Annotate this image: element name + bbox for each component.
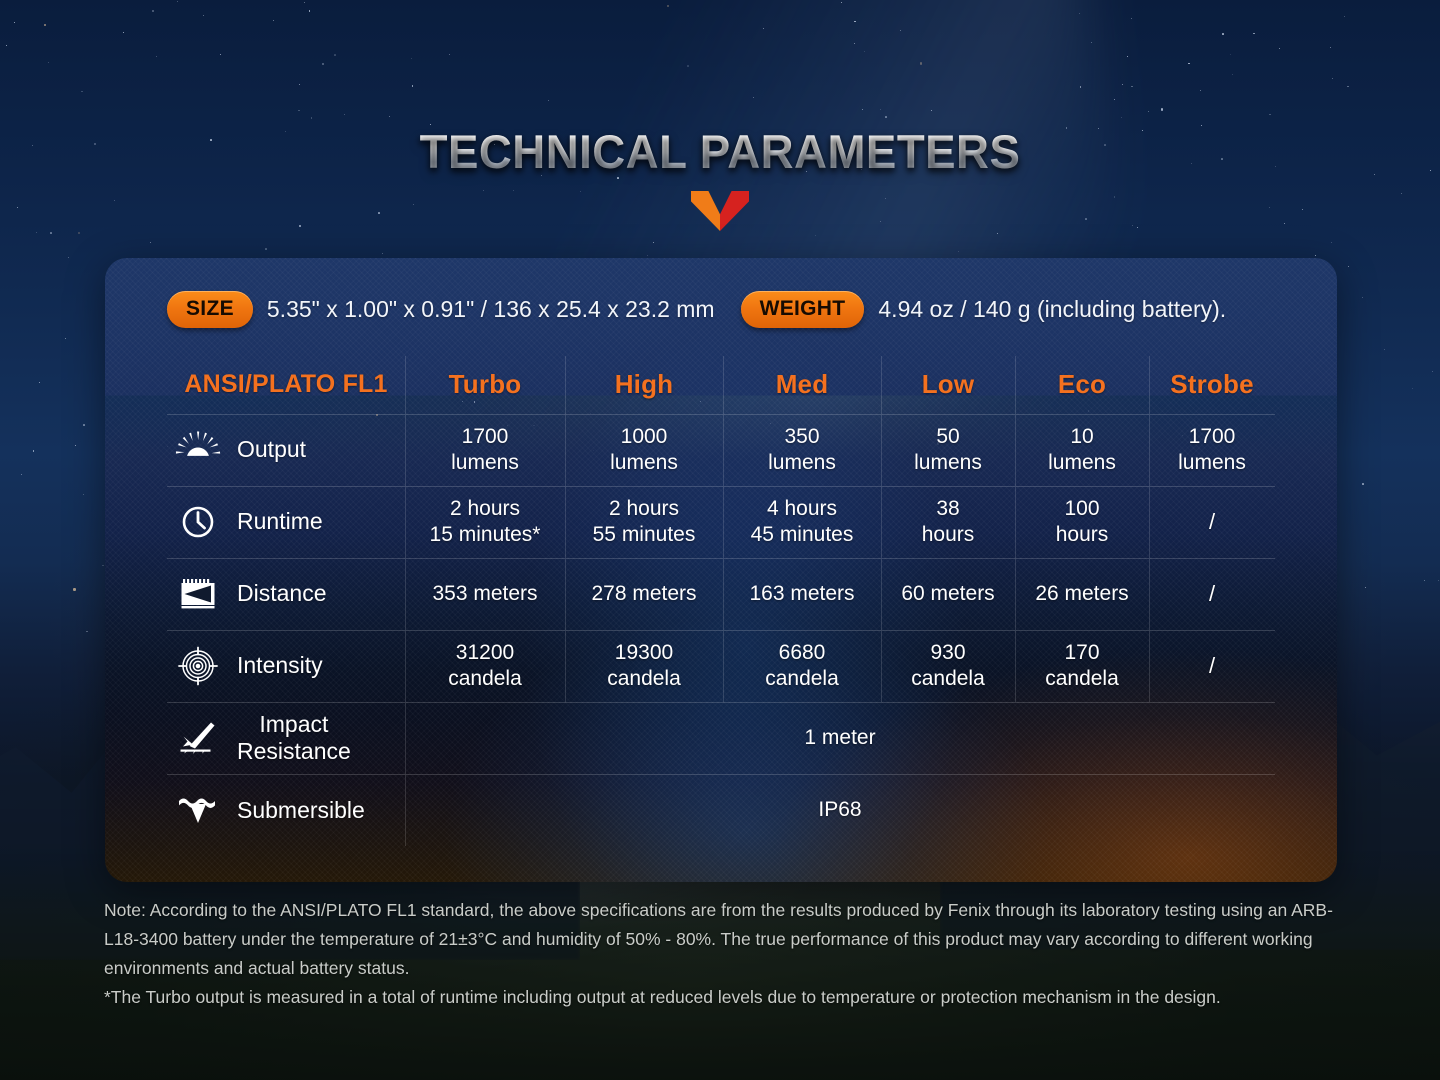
size-badge: SIZE (167, 291, 253, 328)
header-ansi-plato-fl1: ANSI/PLATO FL1 (167, 356, 405, 414)
value-cell: 1700lumens (405, 414, 565, 486)
value-cell: 31200candela (405, 630, 565, 702)
sunburst-icon (175, 430, 221, 470)
value-cell: 10lumens (1015, 414, 1149, 486)
row-label-cell: Submersible (167, 774, 405, 846)
header-eco: Eco (1015, 356, 1149, 414)
header-strobe: Strobe (1149, 356, 1275, 414)
value-cell: 930candela (881, 630, 1015, 702)
footnote: Note: According to the ANSI/PLATO FL1 st… (104, 896, 1360, 1012)
footnote-line-2: *The Turbo output is measured in a total… (104, 983, 1360, 1012)
table-row: Runtime2 hours15 minutes*2 hours55 minut… (167, 486, 1275, 558)
row-label-cell: Intensity (167, 630, 405, 702)
row-label-cell: ImpactResistance (167, 702, 405, 774)
value-cell: 350lumens (723, 414, 881, 486)
row-label-text: Submersible (237, 797, 365, 824)
table-row: ImpactResistance1 meter (167, 702, 1275, 774)
size-weight-row: SIZE 5.35" x 1.00" x 0.91" / 136 x 25.4 … (167, 258, 1275, 356)
table-row: Intensity31200candela19300candela6680can… (167, 630, 1275, 702)
value-cell: 6680candela (723, 630, 881, 702)
value-cell: 38hours (881, 486, 1015, 558)
merged-value-cell: 1 meter (405, 702, 1275, 774)
table-header-row: ANSI/PLATO FL1 Turbo High Med Low Eco St… (167, 356, 1275, 414)
value-cell: 4 hours45 minutes (723, 486, 881, 558)
clock-icon (175, 502, 221, 542)
row-label-text: ImpactResistance (237, 711, 351, 765)
weight-badge: WEIGHT (741, 291, 865, 328)
value-cell: 19300candela (565, 630, 723, 702)
table-row: Output1700lumens1000lumens350lumens50lum… (167, 414, 1275, 486)
chevron-down-icon (691, 191, 749, 231)
value-cell: 1700lumens (1149, 414, 1275, 486)
weight-value: 4.94 oz / 140 g (including battery). (878, 296, 1226, 323)
value-cell: / (1149, 630, 1275, 702)
value-cell: 2 hours55 minutes (565, 486, 723, 558)
row-label-text: Distance (237, 580, 326, 607)
row-label-text: Intensity (237, 652, 323, 679)
spec-card: SIZE 5.35" x 1.00" x 0.91" / 136 x 25.4 … (105, 258, 1337, 882)
title-block: TECHNICAL PARAMETERS (0, 128, 1440, 231)
technical-parameters-table: ANSI/PLATO FL1 Turbo High Med Low Eco St… (167, 356, 1275, 846)
header-med: Med (723, 356, 881, 414)
value-cell: 50lumens (881, 414, 1015, 486)
beam-distance-icon (175, 574, 221, 614)
footnote-line-1: Note: According to the ANSI/PLATO FL1 st… (104, 896, 1360, 983)
value-cell: 1000lumens (565, 414, 723, 486)
target-icon (175, 646, 221, 686)
submersible-icon (175, 790, 221, 830)
row-label-cell: Runtime (167, 486, 405, 558)
value-cell: 353 meters (405, 558, 565, 630)
chevron-left-half (691, 191, 720, 231)
size-value: 5.35" x 1.00" x 0.91" / 136 x 25.4 x 23.… (267, 296, 715, 323)
page-title: TECHNICAL PARAMETERS (22, 128, 1419, 175)
value-cell: 60 meters (881, 558, 1015, 630)
value-cell: 163 meters (723, 558, 881, 630)
row-label-text: Runtime (237, 508, 323, 535)
value-cell: 26 meters (1015, 558, 1149, 630)
value-cell: 170candela (1015, 630, 1149, 702)
header-low: Low (881, 356, 1015, 414)
header-high: High (565, 356, 723, 414)
value-cell: / (1149, 486, 1275, 558)
value-cell: 278 meters (565, 558, 723, 630)
row-label-text: Output (237, 436, 306, 463)
impact-icon (175, 718, 221, 758)
row-label-cell: Distance (167, 558, 405, 630)
chevron-right-half (720, 191, 749, 231)
value-cell: 100hours (1015, 486, 1149, 558)
merged-value-cell: IP68 (405, 774, 1275, 846)
row-label-cell: Output (167, 414, 405, 486)
header-turbo: Turbo (405, 356, 565, 414)
value-cell: / (1149, 558, 1275, 630)
value-cell: 2 hours15 minutes* (405, 486, 565, 558)
table-row: Distance353 meters278 meters163 meters60… (167, 558, 1275, 630)
table-body: Output1700lumens1000lumens350lumens50lum… (167, 414, 1275, 846)
table-row: SubmersibleIP68 (167, 774, 1275, 846)
